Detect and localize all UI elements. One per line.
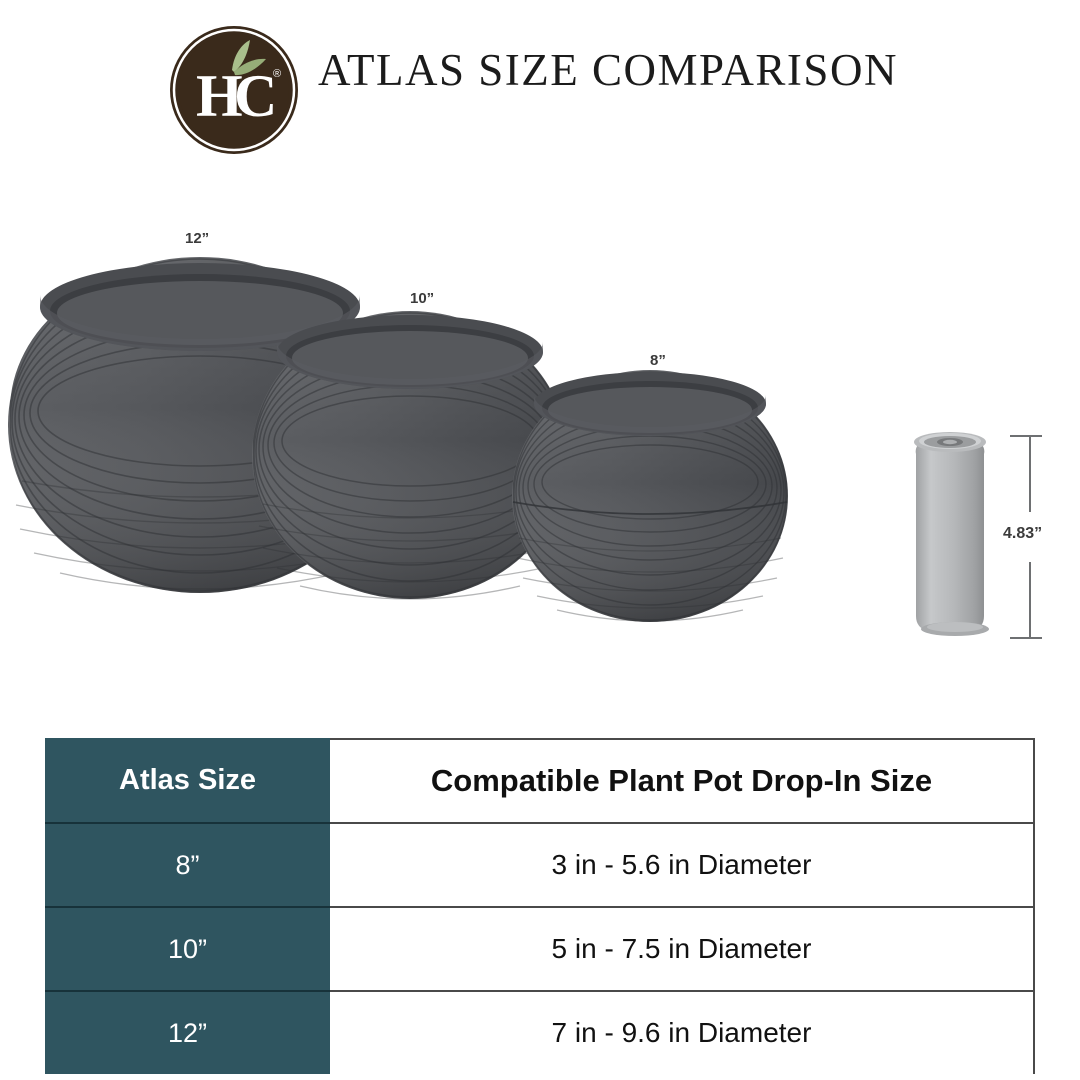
size-comparison-infographic: H C ® ATLAS SIZE COMPARISON [0,0,1080,1080]
product-stage: 12” [0,160,1080,720]
header: H C ® ATLAS SIZE COMPARISON [0,0,1080,160]
column-header-atlas-size: Atlas Size [45,738,330,822]
cell-compatible-size: 7 in - 9.6 in Diameter [330,990,1035,1074]
cell-atlas-size: 12” [45,990,330,1074]
can-height-label: 4.83” [1003,525,1042,543]
cell-atlas-size: 10” [45,906,330,990]
pot-8in: 8” [505,360,795,630]
svg-text:C: C [234,63,277,129]
size-chart-table: Atlas Size Compatible Plant Pot Drop-In … [45,738,1035,1074]
hc-logo: H C ® [168,24,300,156]
table-row: 8” 3 in - 5.6 in Diameter [45,822,1035,906]
svg-text:®: ® [273,68,281,80]
page-title: ATLAS SIZE COMPARISON [318,44,898,96]
cell-compatible-size: 5 in - 7.5 in Diameter [330,906,1035,990]
table-row: 12” 7 in - 9.6 in Diameter [45,990,1035,1074]
pot-12in-size-label: 12” [185,230,209,247]
table-header-row: Atlas Size Compatible Plant Pot Drop-In … [45,738,1035,822]
cell-atlas-size: 8” [45,822,330,906]
table-row: 10” 5 in - 7.5 in Diameter [45,906,1035,990]
pot-10in-size-label: 10” [410,290,434,307]
column-header-compatible-size: Compatible Plant Pot Drop-In Size [330,738,1035,822]
cell-compatible-size: 3 in - 5.6 in Diameter [330,822,1035,906]
pot-8in-size-label: 8” [650,352,666,369]
